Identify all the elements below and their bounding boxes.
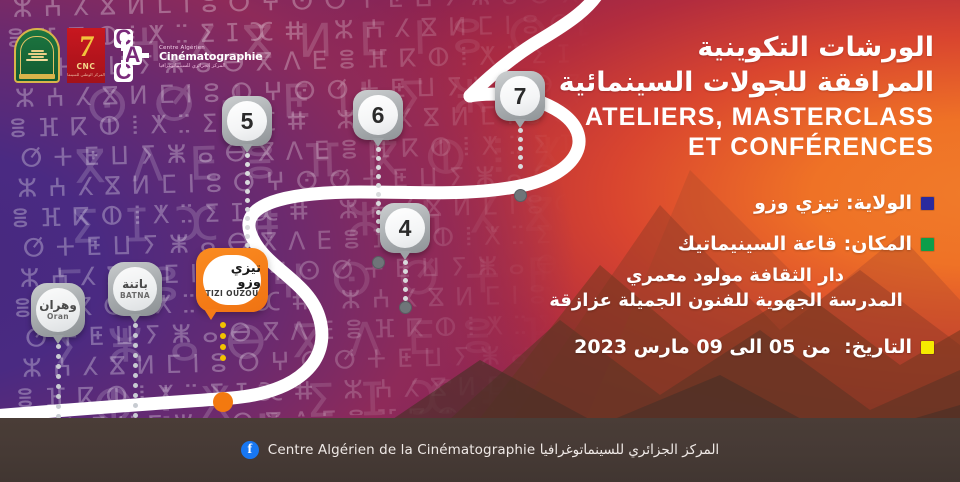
detail-row-wilaya: الولاية: تيزي وزو <box>514 192 934 216</box>
footer-text[interactable]: Centre Algérien de la Cinématographie ال… <box>268 442 719 458</box>
cnc-logo: 7 CNC المركز الوطني للسينما <box>67 28 105 83</box>
node-bubble: 6 <box>353 90 403 140</box>
cac-line3: المركز الجزائري للسينماتوغرافيا <box>159 63 263 69</box>
bullet-date-icon <box>921 341 934 354</box>
wilaya-text: الولاية: تيزي وزو <box>754 192 912 216</box>
cac-logo: C A C Centre Algérien Cinématographie ال… <box>112 29 263 83</box>
cac-monogram: C A C <box>112 29 158 83</box>
place-text: المكان: قاعة السينيماتيك <box>678 233 912 257</box>
title-french-line2: ET CONFÉRENCES <box>504 133 934 163</box>
city-disc: باتنة BATNA <box>113 267 157 311</box>
title-french-line1: ATELIERS, MASTERCLASS <box>504 103 934 133</box>
place-value: قاعة السينيماتيك <box>678 233 837 255</box>
date-label: التاريخ: <box>844 336 912 358</box>
node-bubble: 5 <box>222 96 272 146</box>
cac-wordmark: Centre Algérien Cinématographie المركز ا… <box>159 45 263 70</box>
city-bubble-active: تيزي وزو TIZI OUZOU <box>196 248 268 312</box>
cac-line2: Cinématographie <box>159 51 263 63</box>
route-node-6[interactable]: 6 <box>353 90 403 140</box>
city-marker-batna[interactable]: باتنة BATNA <box>108 262 162 316</box>
node-pin <box>399 301 412 314</box>
node-label: 5 <box>227 101 267 141</box>
node-connector-dots <box>403 260 408 301</box>
route-node-5[interactable]: 5 <box>222 96 272 146</box>
cnc-seven: 7 <box>78 34 95 60</box>
bullet-place-icon <box>921 238 934 251</box>
city-name-ar: تيزي وزو <box>203 262 261 289</box>
city-marker-tizi-ouzou[interactable]: تيزي وزو TIZI OUZOU <box>196 248 268 312</box>
node-label: 6 <box>358 95 398 135</box>
ministry-moudjahidine-logo <box>14 28 60 83</box>
place-line2: دار الثقافة مولود معمري <box>514 263 934 289</box>
facebook-icon[interactable]: f <box>241 441 259 459</box>
footer-text-fr: Centre Algérien de la Cinématographie <box>268 442 536 458</box>
node-bubble: 4 <box>380 203 430 253</box>
node-pin <box>372 256 385 269</box>
city-connector-dots <box>133 323 138 418</box>
cnc-sub: المركز الوطني للسينما <box>67 72 105 77</box>
detail-row-place: المكان: قاعة السينيماتيك <box>514 233 934 257</box>
ministry-logo-base <box>19 74 55 79</box>
bullet-wilaya-icon <box>921 197 934 210</box>
ministry-logo-inner <box>20 36 54 76</box>
city-connector-dots-active <box>220 322 225 361</box>
city-bubble: وهران Oran <box>31 283 85 337</box>
footer: f Centre Algérien de la Cinématographie … <box>0 418 960 482</box>
event-details: الولاية: تيزي وزو المكان: قاعة السينيمات… <box>514 192 934 376</box>
city-disc: وهران Oran <box>36 288 80 332</box>
place-label: المكان: <box>844 233 912 255</box>
date-text: التاريخ: من 05 الى 09 مارس 2023 <box>574 336 912 360</box>
city-name-latin: BATNA <box>120 292 150 300</box>
node-label: 4 <box>385 208 425 248</box>
date-value: من 05 الى 09 مارس 2023 <box>574 336 831 358</box>
city-name-latin: Oran <box>47 313 69 321</box>
logo-strip: 7 CNC المركز الوطني للسينما C A C Centre… <box>14 28 263 83</box>
city-name-ar: باتنة <box>122 278 148 291</box>
place-line3: المدرسة الجهوية للفنون الجميلة عزازقة <box>514 288 934 314</box>
title-block: الورشات التكوينية المرافقة للجولات السين… <box>504 30 934 162</box>
poster-canvas: ⵣⵄⵃⴵⵍⵎⵏⵓⵔⵖⵙⵚⵜⵟⵡⵢⵥⴰⴱⴳⴷⴹⴻⴼⴽⵀⵂⵅⵆⵉⵊⵋⵌ ⵣⵄⵃⴵⵍⵎ… <box>0 0 960 482</box>
cnc-caption: CNC <box>76 62 95 71</box>
detail-row-date: التاريخ: من 05 الى 09 مارس 2023 <box>514 336 934 360</box>
city-connector-dots <box>56 344 61 419</box>
footer-text-ar: المركز الجزائري للسينماتوغرافيا <box>540 442 719 458</box>
city-marker-oran[interactable]: وهران Oran <box>31 283 85 337</box>
title-arabic-line1: الورشات التكوينية <box>504 30 934 65</box>
city-name-ar: وهران <box>39 299 77 312</box>
city-pin-active <box>213 392 233 412</box>
city-disc: تيزي وزو TIZI OUZOU <box>203 255 261 305</box>
city-name-latin: TIZI OUZOU <box>205 290 258 298</box>
route-node-4[interactable]: 4 <box>380 203 430 253</box>
wilaya-label: الولاية: <box>846 192 912 214</box>
title-arabic-line2: المرافقة للجولات السينمائية <box>504 65 934 100</box>
wilaya-value: تيزي وزو <box>754 192 839 214</box>
city-bubble: باتنة BATNA <box>108 262 162 316</box>
